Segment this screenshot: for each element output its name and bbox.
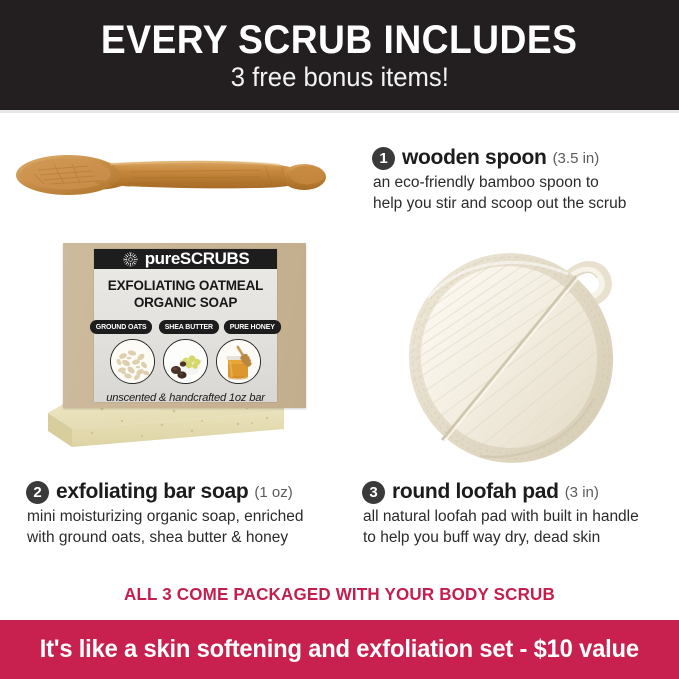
ingredient-image-row — [110, 339, 261, 384]
ingredient-pill: GROUND OATS — [90, 320, 152, 334]
item-1-title: wooden spoon — [402, 146, 547, 170]
item-2-number-badge: 2 — [26, 481, 49, 504]
ingredient-pill: SHEA BUTTER — [158, 320, 218, 334]
item-2-size: (1 oz) — [254, 484, 292, 501]
page-subtitle: 3 free bonus items! — [230, 64, 448, 91]
item-3-title: round loofah pad — [392, 480, 559, 504]
item-3-heading: 3 round loofah pad (3 in) — [362, 480, 672, 504]
item-1-desc-line-1: an eco-friendly bamboo spoon to — [373, 173, 672, 194]
item-2-text-block: 2 exfoliating bar soap (1 oz) mini moist… — [26, 480, 346, 549]
soap-brand-band: pureSCRUBS — [94, 249, 277, 269]
item-2-desc-line-1: mini moisturizing organic soap, enriched — [27, 507, 346, 528]
wooden-spoon-image — [10, 140, 355, 210]
item-3-desc-line-1: all natural loofah pad with built in han… — [363, 507, 672, 528]
header-banner: EVERY SCRUB INCLUDES 3 free bonus items! — [0, 0, 679, 110]
soap-brand-name: pureSCRUBS — [145, 249, 250, 269]
item-2-heading: 2 exfoliating bar soap (1 oz) — [26, 480, 346, 504]
soap-product-line-2: ORGANIC SOAP — [134, 295, 237, 312]
item-1-desc-line-2: help you stir and scoop out the scrub — [373, 194, 672, 215]
item-1-size: (3.5 in) — [553, 150, 600, 167]
mandala-rosette-icon — [122, 251, 139, 268]
packaged-note: ALL 3 COME PACKAGED WITH YOUR BODY SCRUB — [10, 584, 669, 605]
item-1-text-block: 1 wooden spoon (3.5 in) an eco-friendly … — [372, 146, 672, 215]
pure-honey-icon — [216, 339, 261, 384]
ground-oats-icon — [110, 339, 155, 384]
ingredient-pill-row: GROUND OATS SHEA BUTTER PURE HONEY — [89, 320, 282, 334]
soap-tagline: unscented & handcrafted 1oz bar — [106, 392, 265, 404]
bar-soap-image: pureSCRUBS EXFOLIATING OATMEAL ORGANIC S… — [42, 243, 307, 458]
value-banner-text: It's like a skin softening and exfoliati… — [40, 635, 639, 664]
item-3-text-block: 3 round loofah pad (3 in) all natural lo… — [362, 480, 672, 549]
item-3-desc-line-2: to help you buff way dry, dead skin — [363, 528, 672, 549]
item-2-desc-line-2: with ground oats, shea butter & honey — [27, 528, 346, 549]
item-2-title: exfoliating bar soap — [56, 480, 248, 504]
ingredient-pill: PURE HONEY — [224, 320, 281, 334]
header-divider — [0, 110, 679, 113]
loofah-pad-image — [398, 238, 648, 470]
value-banner: It's like a skin softening and exfoliati… — [0, 620, 679, 679]
item-3-number-badge: 3 — [362, 481, 385, 504]
soap-kraft-wrapper: pureSCRUBS EXFOLIATING OATMEAL ORGANIC S… — [63, 243, 306, 408]
item-1-heading: 1 wooden spoon (3.5 in) — [372, 146, 672, 170]
item-3-size: (3 in) — [565, 484, 599, 501]
item-1-number-badge: 1 — [372, 147, 395, 170]
page-title: EVERY SCRUB INCLUDES — [101, 20, 577, 60]
soap-label-panel: pureSCRUBS EXFOLIATING OATMEAL ORGANIC S… — [94, 249, 277, 402]
soap-product-line-1: EXFOLIATING OATMEAL — [108, 278, 263, 295]
shea-butter-icon — [163, 339, 208, 384]
